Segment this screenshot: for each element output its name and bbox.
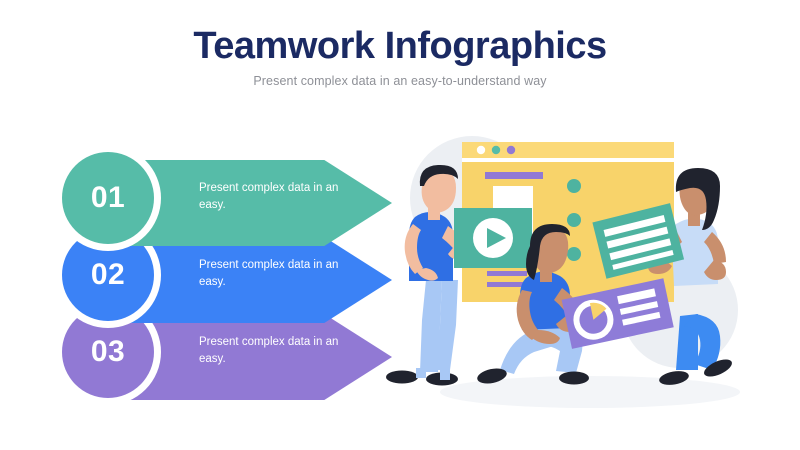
- slide-canvas: Teamwork Infographics Present complex da…: [0, 0, 800, 450]
- bullet-dot-2: [567, 213, 581, 227]
- step-number-01: 01: [91, 183, 125, 213]
- play-button-card: [454, 208, 532, 268]
- shoe-right: [559, 372, 589, 385]
- bullet-dot-3: [567, 247, 581, 261]
- step-number-02: 02: [91, 260, 125, 290]
- step-text-02: Present complex data in an easy.: [199, 257, 349, 290]
- step-number-03: 03: [91, 337, 125, 367]
- header: Teamwork Infographics Present complex da…: [0, 26, 800, 88]
- window-dot-3: [507, 146, 515, 154]
- window-heading-bar: [485, 172, 543, 179]
- step-text-01: Present complex data in an easy.: [199, 180, 349, 213]
- page-title: Teamwork Infographics: [0, 26, 800, 68]
- steps-list: Present complex data in an easy. 03 Pres…: [62, 150, 392, 400]
- page-subtitle: Present complex data in an easy-to-under…: [0, 74, 800, 88]
- step-text-03: Present complex data in an easy.: [199, 334, 349, 367]
- window-dot-1: [477, 146, 485, 154]
- teamwork-illustration: [380, 120, 800, 430]
- step-item-01[interactable]: Present complex data in an easy. 01: [62, 150, 392, 250]
- window-dot-2: [492, 146, 500, 154]
- bullet-dot-1: [567, 179, 581, 193]
- step-badge-01: 01: [62, 152, 154, 244]
